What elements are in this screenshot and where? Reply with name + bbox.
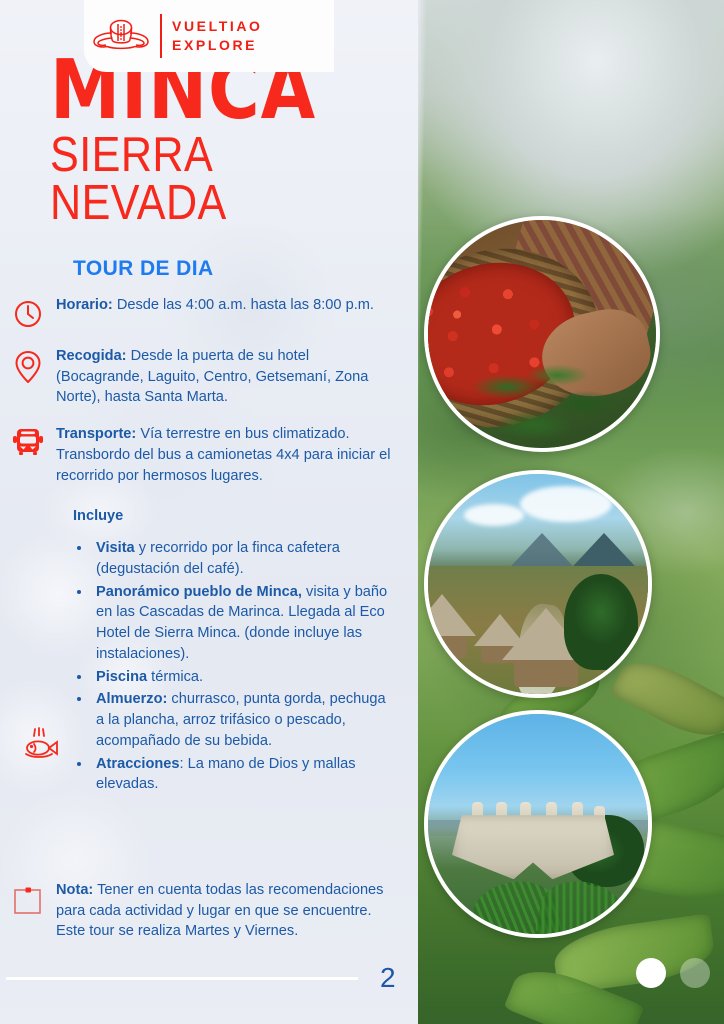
list-item: Visita y recorrido por la finca cafetera… (92, 538, 394, 579)
info-row-recogida: Recogida: Desde la puerta de su hotel (B… (0, 346, 418, 408)
tour-details: Horario: Desde las 4:00 a.m. hasta las 8… (0, 295, 418, 797)
footer-divider (6, 977, 358, 980)
page-number: 2 (380, 962, 396, 994)
info-text-transporte: Transporte: Vía terrestre en bus climati… (56, 424, 400, 486)
info-row-transporte: Transporte: Vía terrestre en bus climati… (0, 424, 418, 486)
note-value: Tener en cuenta todas las recomendacione… (56, 882, 383, 939)
pagination-dots[interactable] (636, 958, 710, 988)
list-item-label: Atracciones (96, 756, 180, 772)
brand-name-line2: EXPLORE (172, 36, 263, 55)
incluye-list: Visita y recorrido por la finca cafetera… (92, 538, 418, 795)
list-item-label: Almuerzo: (96, 691, 167, 707)
info-row-horario: Horario: Desde las 4:00 a.m. hasta las 8… (0, 295, 418, 330)
title-subtitle: SIERRA NEVADA (50, 131, 374, 227)
hand-of-god-photo (424, 710, 652, 938)
coffee-harvest-photo (424, 216, 660, 452)
brand-logo[interactable]: VUELTIAO EXPLORE (84, 0, 334, 72)
info-value-horario: Desde las 4:00 a.m. hasta las 8:00 p.m. (113, 297, 374, 313)
location-pin-icon (0, 346, 56, 385)
section-heading: TOUR DE DIA (73, 257, 214, 281)
list-item-label: Piscina (96, 669, 147, 685)
list-item-label: Panorámico pueblo de Minca, (96, 584, 302, 600)
note-text: Nota: Tener en cuenta todas las recomend… (56, 880, 400, 942)
info-text-recogida: Recogida: Desde la puerta de su hotel (B… (56, 346, 400, 408)
fish-plate-icon (18, 725, 62, 765)
list-item-label: Visita (96, 540, 135, 556)
list-item: Atracciones: La mano de Dios y mallas el… (92, 754, 394, 795)
note-row: Nota: Tener en cuenta todas las recomend… (0, 880, 418, 942)
brand-name: VUELTIAO EXPLORE (172, 17, 263, 55)
pinned-note-icon (0, 880, 56, 942)
info-label-transporte: Transporte: (56, 426, 136, 442)
incluye-heading: Incluye (73, 508, 418, 524)
content-panel: MINCA SIERRA NEVADA TOUR DE DIA Horario:… (0, 0, 418, 1024)
list-item: Almuerzo: churrasco, punta gorda, pechug… (92, 689, 394, 751)
photo-column (405, 0, 724, 1024)
logo-divider (160, 14, 162, 58)
note-label: Nota: (56, 882, 93, 898)
page-title: MINCA SIERRA NEVADA (50, 56, 418, 227)
list-item-text: térmica. (147, 669, 203, 685)
brochure-page: MINCA SIERRA NEVADA TOUR DE DIA Horario:… (0, 0, 724, 1024)
bus-icon (0, 424, 56, 457)
list-item: Panorámico pueblo de Minca, visita y bañ… (92, 582, 394, 665)
info-text-horario: Horario: Desde las 4:00 a.m. hasta las 8… (56, 295, 400, 316)
indigenous-village-photo (424, 470, 652, 698)
pagination-dot-inactive[interactable] (680, 958, 710, 988)
info-label-horario: Horario: (56, 297, 113, 313)
info-label-recogida: Recogida: (56, 348, 127, 364)
vueltiao-hat-icon (92, 16, 150, 56)
brand-name-line1: VUELTIAO (172, 17, 263, 36)
clock-icon (0, 295, 56, 330)
list-item: Piscina térmica. (92, 667, 394, 688)
pagination-dot-active[interactable] (636, 958, 666, 988)
